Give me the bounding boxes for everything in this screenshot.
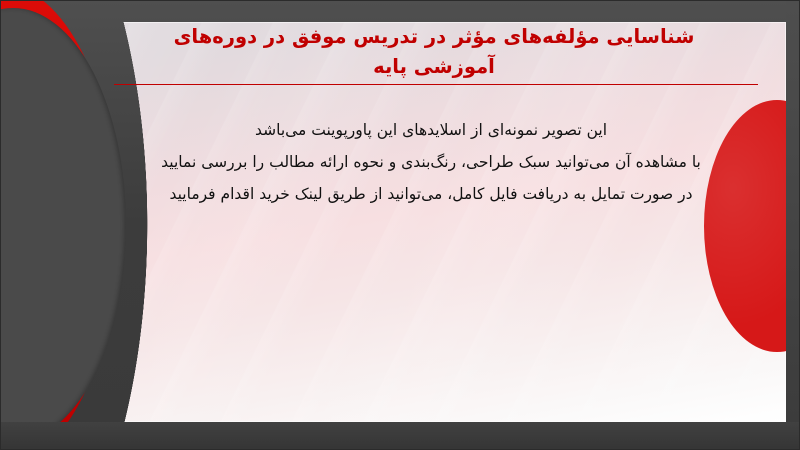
slide-body-text: این تصویر نمونه‌ای از اسلایدهای این پاور…	[90, 115, 778, 211]
body-line-1: این تصویر نمونه‌ای از اسلایدهای این پاور…	[96, 115, 766, 147]
slide-content: شناسایی مؤلفه‌های مؤثر در تدریس موفق در …	[90, 22, 778, 420]
slide-title-line-1: شناسایی مؤلفه‌های مؤثر در تدریس موفق در …	[100, 22, 768, 52]
bottom-frame-strip	[0, 422, 800, 450]
slide-title-line-2: آموزشی پایه	[100, 52, 768, 82]
title-underline-rule	[114, 84, 758, 85]
presentation-slide: شناسایی مؤلفه‌های مؤثر در تدریس موفق در …	[0, 0, 800, 450]
body-line-3: در صورت تمایل به دریافت فایل کامل، می‌تو…	[96, 179, 766, 211]
slide-title: شناسایی مؤلفه‌های مؤثر در تدریس موفق در …	[90, 22, 778, 81]
body-line-2: با مشاهده آن می‌توانید سبک طراحی، رنگ‌بن…	[96, 147, 766, 179]
right-frame-strip	[786, 0, 800, 450]
